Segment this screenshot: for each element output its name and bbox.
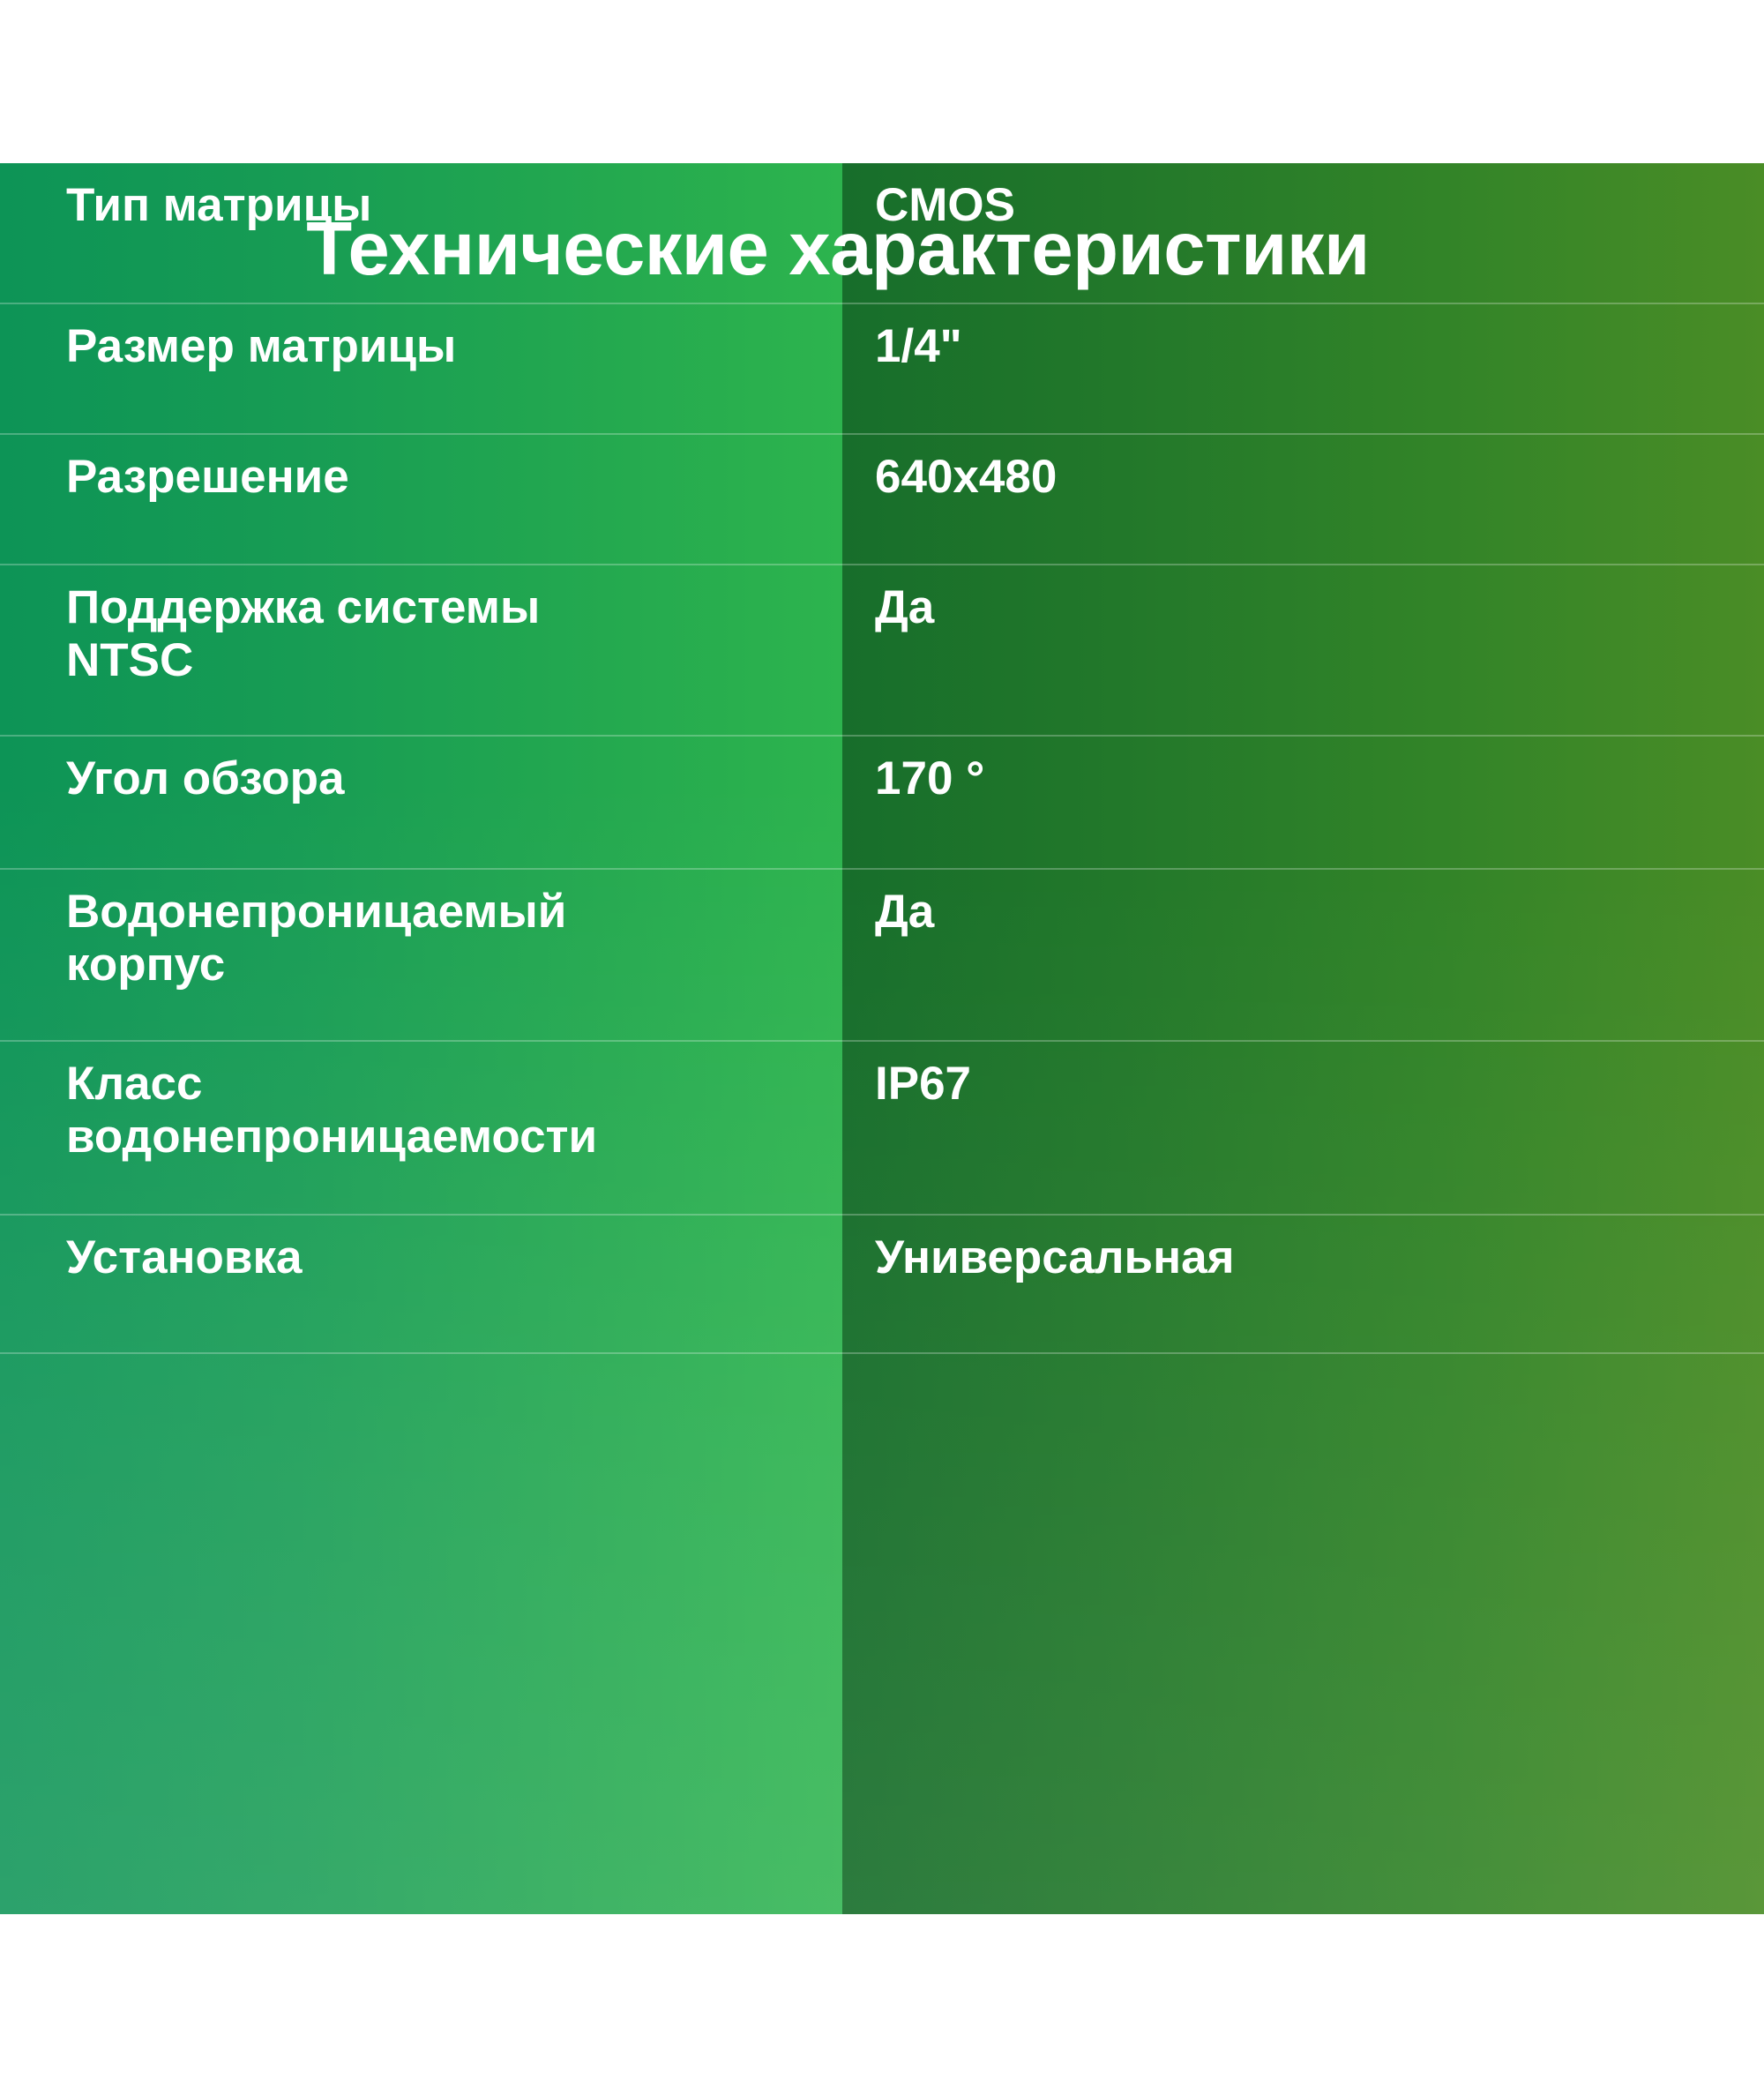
spec-value: IP67 (842, 1042, 1764, 1111)
table-row: Угол обзора170 ° (0, 737, 1764, 870)
spec-label: Поддержка системы NTSC (0, 565, 842, 688)
spec-value: Да (842, 870, 1764, 939)
table-row: Размер матрицы1/4" (0, 304, 1764, 435)
table-row: Разрешение640x480 (0, 435, 1764, 565)
page-title: Технические характеристики (0, 212, 1676, 287)
spec-value: Универсальная (842, 1216, 1764, 1284)
spec-label (0, 1354, 842, 1370)
spec-value: Да (842, 565, 1764, 634)
specifications-table: Тип матрицыCMOSРазмер матрицы1/4"Разреше… (0, 163, 1764, 1751)
table-row: Водонепроницаемый корпусДа (0, 870, 1764, 1042)
spec-value (842, 1482, 1764, 1498)
spec-value: 170 ° (842, 737, 1764, 805)
spec-label: Размер матрицы (0, 304, 842, 373)
spec-label: Разрешение (0, 435, 842, 504)
table-row: Поддержка системы NTSCДа (0, 565, 1764, 737)
spec-value (842, 1354, 1764, 1370)
spec-label: Водонепроницаемый корпус (0, 870, 842, 992)
table-row: Класс водонепроницаемостиIP67 (0, 1042, 1764, 1216)
table-row: УстановкаУниверсальная (0, 1216, 1764, 1354)
specifications-panel: Технические характеристики Тип матрицыCM… (0, 163, 1764, 1914)
spec-value: 1/4" (842, 304, 1764, 373)
spec-label: Класс водонепроницаемости (0, 1042, 842, 1164)
spec-value: 640x480 (842, 435, 1764, 504)
spec-label: Угол обзора (0, 737, 842, 805)
table-row-empty (0, 1354, 1764, 1482)
spec-label (0, 1482, 842, 1498)
spec-label: Установка (0, 1216, 842, 1284)
table-row-empty (0, 1482, 1764, 1751)
